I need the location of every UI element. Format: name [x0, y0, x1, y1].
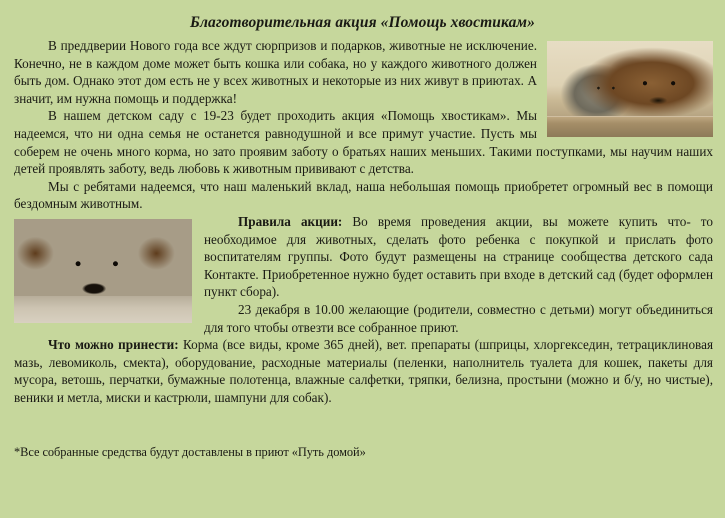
page-title: Благотворительная акция «Помощь хвостика…: [10, 13, 715, 33]
photo-dog-cat: [547, 41, 713, 137]
photo-puppy: [14, 219, 192, 323]
poster-page: Благотворительная акция «Помощь хвостика…: [0, 13, 725, 518]
paragraph-rules-lead: Правила акции:: [238, 214, 342, 229]
paragraph-bring-lead: Что можно принести:: [48, 337, 179, 352]
paragraph-bring: Что можно принести: Корма (все виды, кро…: [14, 336, 713, 406]
footnote: *Все собранные средства будут доставлены…: [14, 444, 713, 462]
paragraph-hope: Мы с ребятами надеемся, что наш маленьки…: [14, 178, 713, 213]
poster-body: В преддверии Нового года все ждут сюрпри…: [14, 37, 713, 462]
